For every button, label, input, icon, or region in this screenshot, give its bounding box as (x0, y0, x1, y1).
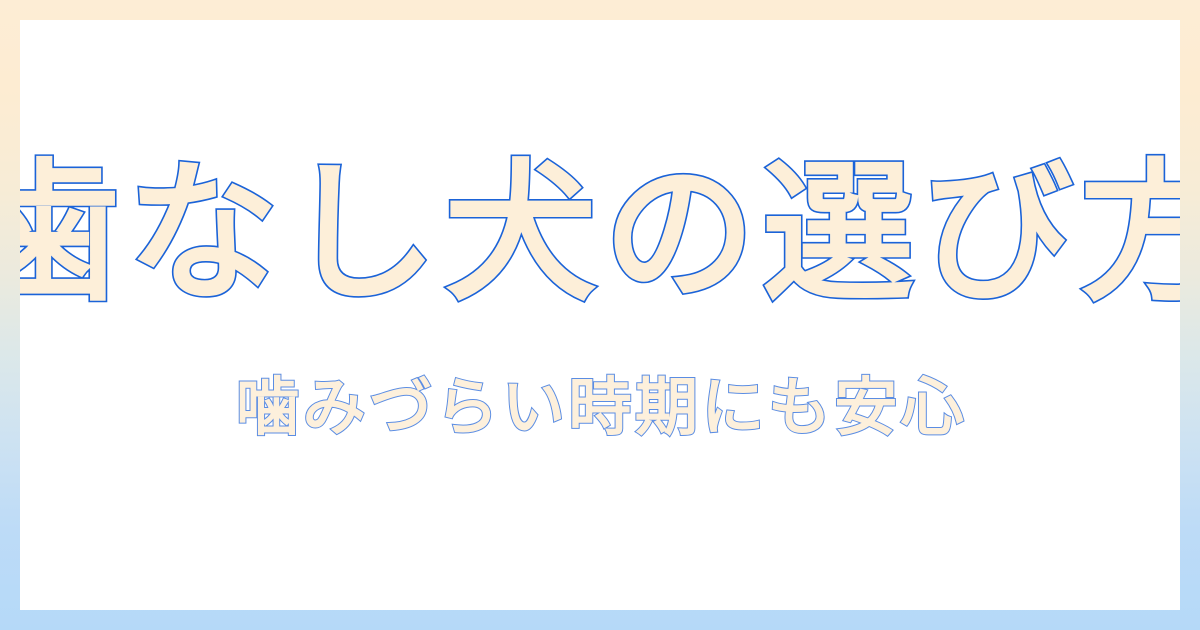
poster-headline: 歯なし犬の選び方 (20, 158, 1180, 310)
poster-frame: 歯なし犬の選び方 噛みづらい時期にも安心 (0, 0, 1200, 630)
poster-card: 歯なし犬の選び方 噛みづらい時期にも安心 (20, 20, 1180, 610)
poster-subheadline: 噛みづらい時期にも安心 (233, 376, 968, 439)
poster-content: 歯なし犬の選び方 噛みづらい時期にも安心 (20, 20, 1180, 610)
